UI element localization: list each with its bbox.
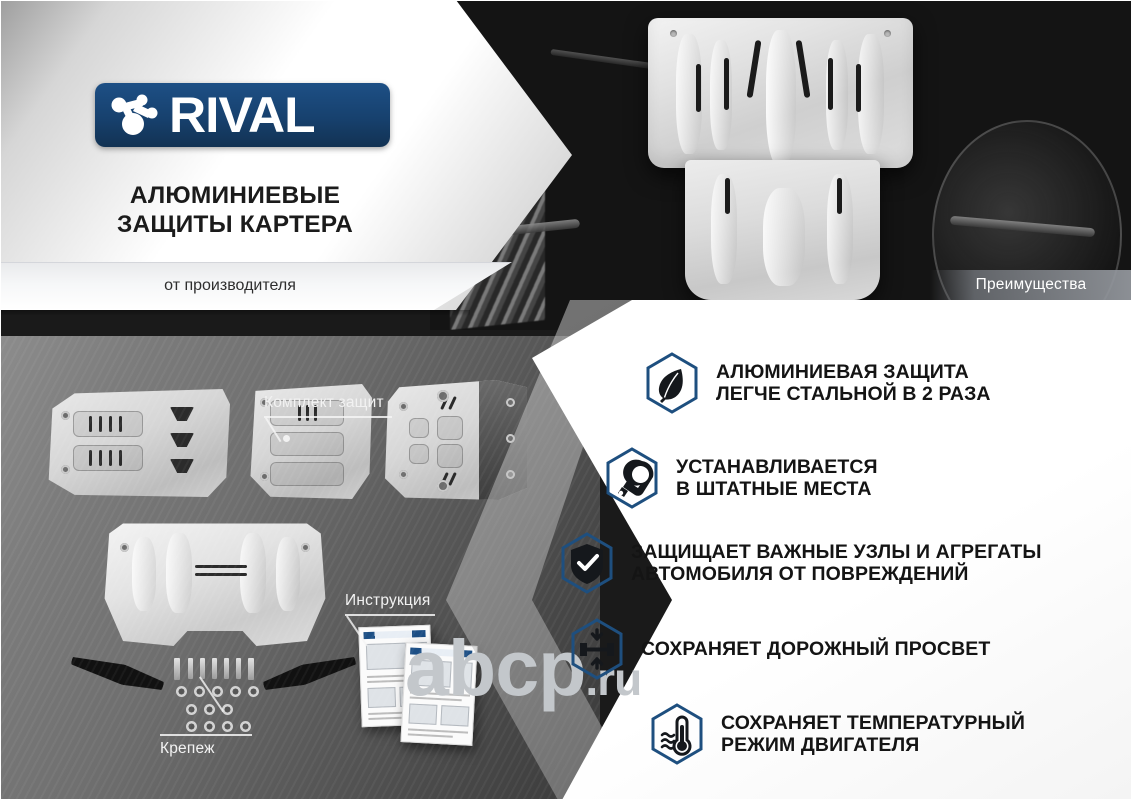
- rival-product-banner: RIVAL АЛЮМИНИЕВЫЕ ЗАЩИТЫ КАРТЕРА от прои…: [0, 0, 1132, 800]
- feature-text: АЛЮМИНИЕВАЯ ЗАЩИТАЛЕГЧЕ СТАЛЬНОЙ В 2 РАЗ…: [716, 361, 991, 405]
- feature-line2: РЕЖИМ ДВИГАТЕЛЯ: [721, 734, 919, 756]
- feature-item-ground-clearance: СОХРАНЯЕТ ДОРОЖНЫЙ ПРОСВЕТ: [569, 618, 990, 680]
- feature-line1: АЛЮМИНИЕВАЯ ЗАЩИТА: [716, 361, 969, 383]
- feature-item-temperature: СОХРАНЯЕТ ТЕМПЕРАТУРНЫЙРЕЖИМ ДВИГАТЕЛЯ: [649, 703, 1025, 765]
- feature-item-aluminium-light: АЛЮМИНИЕВАЯ ЗАЩИТАЛЕГЧЕ СТАЛЬНОЙ В 2 РАЗ…: [644, 352, 991, 414]
- feature-text: ЗАЩИЩАЕТ ВАЖНЫЕ УЗЛЫ И АГРЕГАТЫАВТОМОБИЛ…: [631, 541, 1042, 585]
- feature-line2: В ШТАТНЫЕ МЕСТА: [676, 478, 872, 500]
- feature-line1: СОХРАНЯЕТ ДОРОЖНЫЙ ПРОСВЕТ: [641, 638, 990, 660]
- feature-line2: АВТОМОБИЛЯ ОТ ПОВРЕЖДЕНИЙ: [631, 563, 969, 585]
- feather-icon: [644, 352, 700, 414]
- feature-line1: ЗАЩИЩАЕТ ВАЖНЫЕ УЗЛЫ И АГРЕГАТЫ: [631, 541, 1042, 563]
- thermometer-icon: [649, 703, 705, 765]
- wrench-icon: [604, 447, 660, 509]
- feature-text: СОХРАНЯЕТ ДОРОЖНЫЙ ПРОСВЕТ: [641, 638, 990, 660]
- shield-check-icon: [559, 532, 615, 594]
- feature-line1: УСТАНАВЛИВАЕТСЯ: [676, 456, 878, 478]
- ground-clearance-icon: [569, 618, 625, 680]
- feature-text: УСТАНАВЛИВАЕТСЯВ ШТАТНЫЕ МЕСТА: [676, 456, 878, 500]
- feature-text: СОХРАНЯЕТ ТЕМПЕРАТУРНЫЙРЕЖИМ ДВИГАТЕЛЯ: [721, 712, 1025, 756]
- feature-line2: ЛЕГЧЕ СТАЛЬНОЙ В 2 РАЗА: [716, 383, 991, 405]
- feature-item-standard-mounting: УСТАНАВЛИВАЕТСЯВ ШТАТНЫЕ МЕСТА: [604, 447, 878, 509]
- feature-item-protects-units: ЗАЩИЩАЕТ ВАЖНЫЕ УЗЛЫ И АГРЕГАТЫАВТОМОБИЛ…: [559, 532, 1042, 594]
- advantages-list: АЛЮМИНИЕВАЯ ЗАЩИТАЛЕГЧЕ СТАЛЬНОЙ В 2 РАЗ…: [0, 0, 1132, 800]
- feature-line1: СОХРАНЯЕТ ТЕМПЕРАТУРНЫЙ: [721, 712, 1025, 734]
